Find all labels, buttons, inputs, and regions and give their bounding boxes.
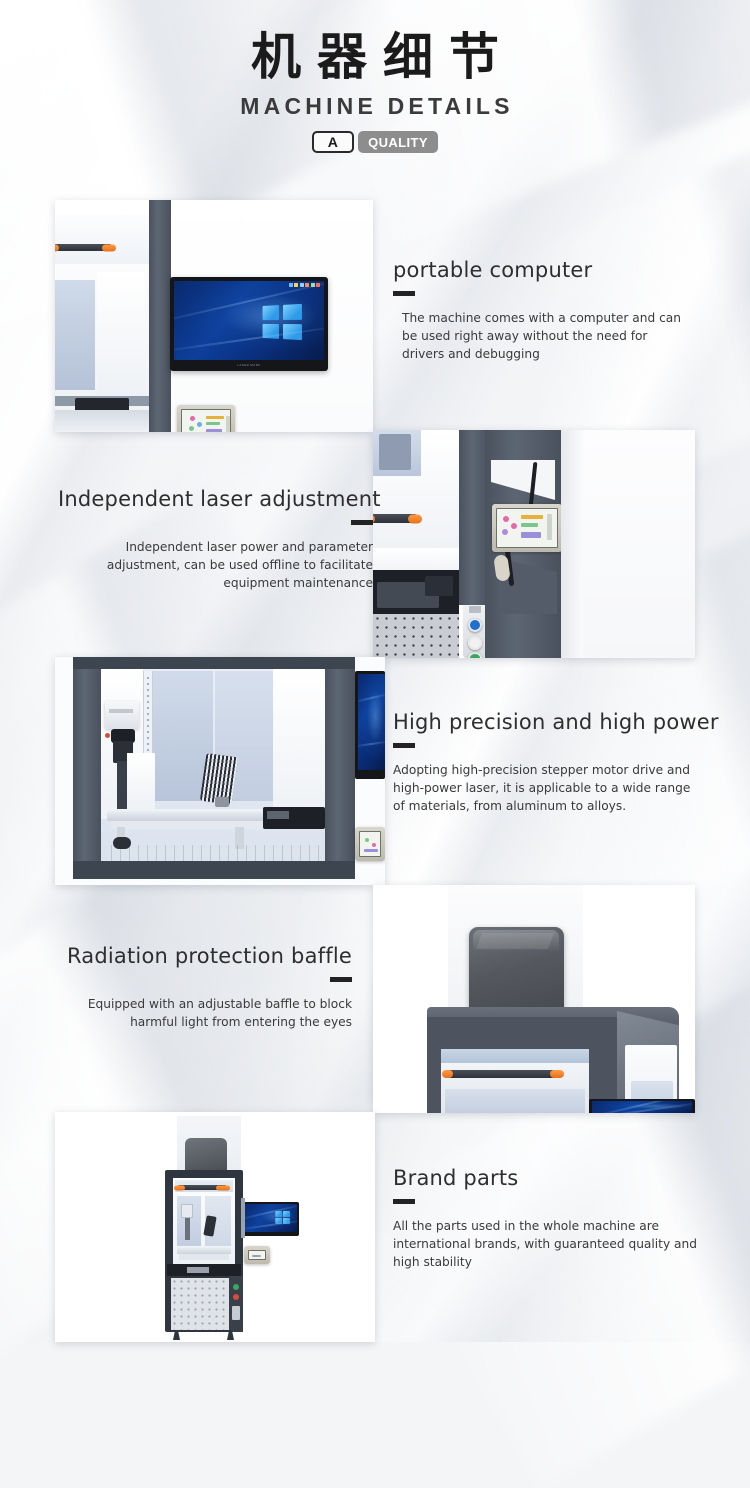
perforated-cabinet	[171, 1278, 229, 1330]
green-button-icon	[468, 652, 482, 658]
radiation-baffle	[185, 1138, 227, 1172]
page-title-chinese: 机器细节	[0, 0, 750, 87]
windows-logo-icon	[275, 1211, 290, 1224]
quality-badge: A QUALITY	[0, 131, 750, 153]
badge-quality-label: QUALITY	[358, 131, 438, 153]
hmi-panel	[355, 827, 385, 861]
windows-logo-icon	[263, 304, 302, 340]
monitor-display: LASER MARK	[170, 277, 328, 371]
radiation-baffle	[469, 927, 564, 1019]
section-title: High precision and high power	[393, 710, 698, 734]
section-body: Independent laser power and parameter ad…	[58, 538, 373, 592]
hmi-panel	[244, 1246, 270, 1264]
badge-grade-letter: A	[312, 131, 354, 153]
title-divider	[393, 291, 415, 296]
blue-button-icon	[468, 618, 482, 632]
title-divider	[393, 743, 415, 748]
section-title: Brand parts	[393, 1166, 698, 1190]
taskbar-icons	[289, 283, 321, 287]
door-handle	[445, 1070, 561, 1078]
section-body: The machine comes with a computer and ca…	[393, 309, 683, 363]
photo-brand-parts	[55, 1112, 375, 1342]
title-divider	[393, 1199, 415, 1204]
title-divider	[330, 977, 352, 982]
photo-laser-adjustment: LASER MARK	[373, 430, 695, 658]
photo-high-precision	[55, 657, 385, 885]
red-button-icon	[468, 636, 482, 650]
laser-head-controller	[105, 701, 139, 729]
text-laser-adjustment: Independent laser adjustment Independent…	[58, 487, 373, 592]
text-radiation-baffle: Radiation protection baffle Equipped wit…	[60, 944, 352, 1031]
section-title: Independent laser adjustment	[58, 487, 373, 511]
photo-radiation-baffle	[373, 885, 695, 1113]
text-high-precision: High precision and high power Adopting h…	[393, 710, 698, 815]
hmi-touchscreen-panel	[492, 504, 562, 552]
monitor-display	[243, 1202, 299, 1236]
section-title: portable computer	[393, 258, 683, 282]
monitor-display	[589, 1099, 695, 1113]
text-portable-computer: portable computer The machine comes with…	[393, 258, 683, 363]
work-table	[107, 809, 267, 821]
section-body: All the parts used in the whole machine …	[393, 1217, 698, 1271]
door-handle	[177, 1185, 227, 1190]
page-title-english: MACHINE DETAILS	[0, 93, 750, 120]
red-indicator-icon	[233, 1294, 239, 1300]
monitor-display	[355, 671, 385, 779]
section-body: Equipped with an adjustable baffle to bl…	[60, 995, 352, 1031]
photo-portable-computer: LASER MARK	[55, 200, 373, 432]
green-indicator-icon	[233, 1284, 239, 1290]
hmi-panel	[177, 405, 235, 432]
title-divider	[351, 520, 373, 525]
text-brand-parts: Brand parts All the parts used in the wh…	[393, 1166, 698, 1271]
page-header: 机器细节 MACHINE DETAILS A QUALITY	[0, 0, 750, 195]
section-body: Adopting high-precision stepper motor dr…	[393, 761, 698, 815]
section-title: Radiation protection baffle	[60, 944, 352, 968]
